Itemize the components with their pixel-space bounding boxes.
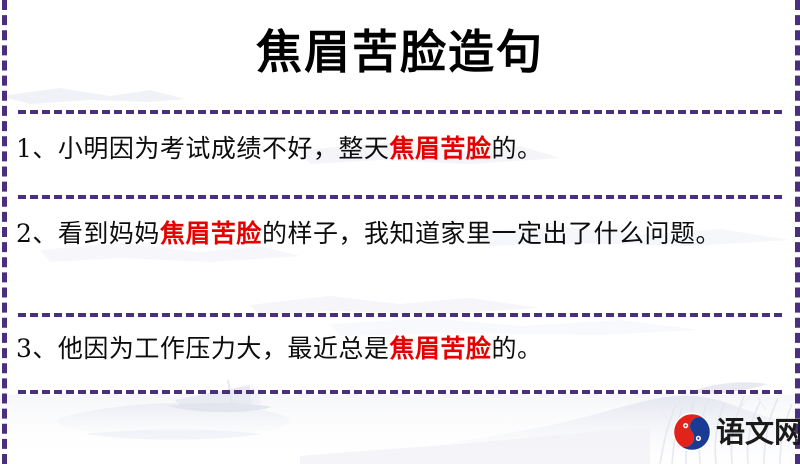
highlighted-idiom: 焦眉苦脸 [160,219,262,248]
site-logo[interactable]: 语文网 [672,412,800,452]
sentence-text-after: 的。 [491,134,542,163]
taiji-circle-icon [672,412,712,452]
sentence-text-after: 的样子，我知道家里一定出了什么问题。 [262,219,721,248]
example-sentence-2: 2、看到妈妈焦眉苦脸的样子，我知道家里一定出了什么问题。 [16,213,786,255]
sentence-text-before: 小明因为考试成绩不好，整天 [58,134,390,163]
divider-2 [18,195,782,199]
page-title: 焦眉苦脸造句 [0,22,800,82]
highlighted-idiom: 焦眉苦脸 [389,134,491,163]
divider-3 [18,313,782,317]
sentence-text-before: 看到妈妈 [58,219,160,248]
sentence-number: 3、 [16,334,58,363]
sentence-text-after: 的。 [491,334,542,363]
example-sentence-3: 3、他因为工作压力大，最近总是焦眉苦脸的。 [16,328,786,370]
sentence-text-before: 他因为工作压力大，最近总是 [58,334,390,363]
divider-1 [18,110,782,114]
highlighted-idiom: 焦眉苦脸 [389,334,491,363]
example-sentence-1: 1、小明因为考试成绩不好，整天焦眉苦脸的。 [16,128,786,170]
sentence-number: 2、 [16,219,58,248]
worksheet-page: 焦眉苦脸造句 1、小明因为考试成绩不好，整天焦眉苦脸的。 2、看到妈妈焦眉苦脸的… [0,0,800,464]
sentence-number: 1、 [16,134,58,163]
logo-text: 语文网 [716,416,800,448]
divider-4 [18,390,782,394]
